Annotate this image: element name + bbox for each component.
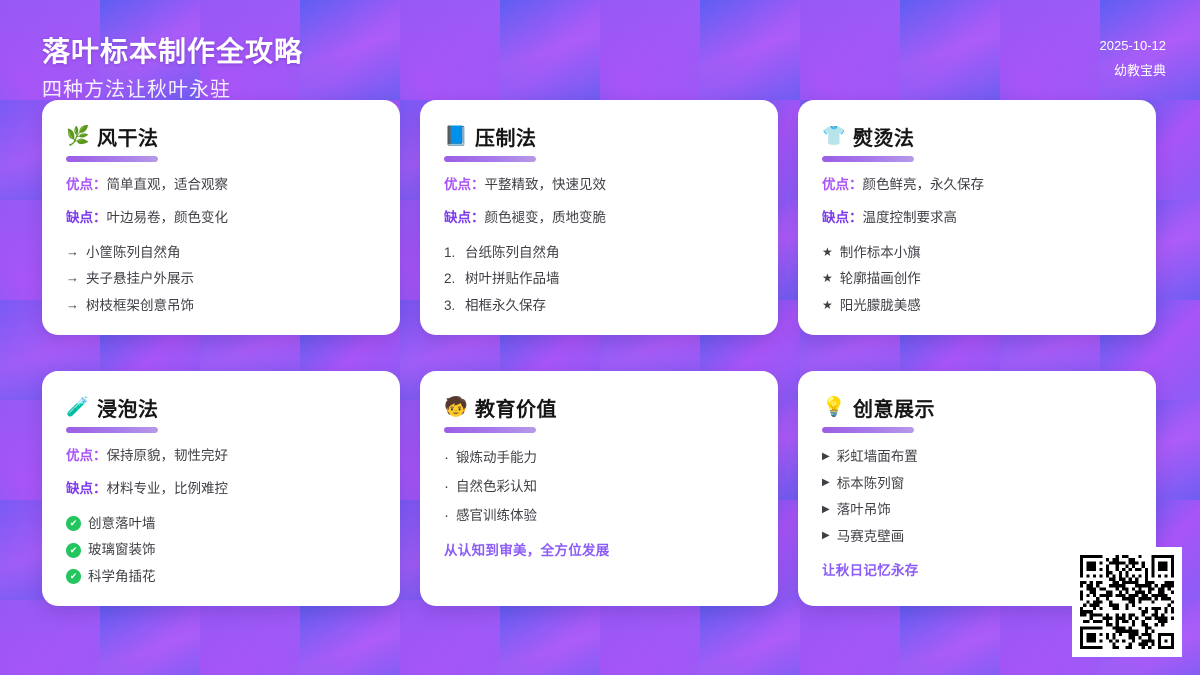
leaf-icon: 🌿 (66, 127, 88, 146)
card-pro-row: 优点：简单直观，适合观察 (66, 175, 376, 195)
book-icon: 📘 (444, 127, 466, 146)
card[interactable]: 🧒教育价值·锻炼动手能力·自然色彩认知·感官训练体验从认知到审美，全方位发展 (420, 371, 778, 606)
list-item: ▶落叶吊饰 (822, 500, 1132, 520)
card-header: 💡创意展示 (822, 393, 1132, 422)
title-underline (444, 156, 536, 162)
con-label: 缺点： (444, 210, 485, 225)
card-header: 🧪浸泡法 (66, 393, 376, 422)
con-value: 叶边易卷，颜色变化 (107, 210, 229, 225)
lightbulb-icon: 💡 (822, 398, 844, 417)
title-underline (822, 427, 914, 433)
qr-code[interactable] (1072, 547, 1182, 657)
con-value: 温度控制要求高 (863, 210, 958, 225)
pro-value: 平整精致，快速见效 (485, 177, 607, 192)
header-source: 幼教宝典 (1100, 59, 1167, 84)
card-header: 📘压制法 (444, 122, 754, 151)
card-con-row: 缺点：温度控制要求高 (822, 208, 1132, 228)
child-icon: 🧒 (444, 398, 466, 417)
pro-label: 优点： (822, 177, 863, 192)
card-list: →小筐陈列自然角→夹子悬挂户外展示→树枝框架创意吊饰 (66, 243, 376, 316)
con-label: 缺点： (66, 210, 107, 225)
card-grid: 🌿风干法优点：简单直观，适合观察缺点：叶边易卷，颜色变化→小筐陈列自然角→夹子悬… (42, 100, 1158, 606)
card[interactable]: 🧪浸泡法优点：保持原貌，韧性完好缺点：材料专业，比例难控✔创意落叶墙✔玻璃窗装饰… (42, 371, 400, 606)
list-bullet-icon: 2. (444, 269, 458, 289)
list-item-label: 感官训练体验 (456, 506, 537, 526)
list-item-label: 科学角插花 (88, 567, 156, 587)
card-title: 浸泡法 (97, 393, 159, 422)
card-list: ·锻炼动手能力·自然色彩认知·感官训练体验 (444, 447, 754, 526)
list-item-label: 玻璃窗装饰 (88, 540, 156, 560)
card-pro-row: 优点：保持原貌，韧性完好 (66, 446, 376, 466)
list-bullet-icon: ★ (822, 244, 833, 261)
list-item-label: 马赛克壁画 (837, 527, 905, 547)
con-label: 缺点： (822, 210, 863, 225)
list-bullet-icon: → (66, 269, 79, 288)
header-meta: 2025-10-12 幼教宝典 (1100, 34, 1167, 83)
card-con-row: 缺点：叶边易卷，颜色变化 (66, 208, 376, 228)
list-bullet-icon: ▶ (822, 476, 830, 491)
header-date: 2025-10-12 (1100, 34, 1167, 59)
pro-label: 优点： (66, 177, 107, 192)
list-item: ★轮廓描画创作 (822, 269, 1132, 289)
list-item-label: 创意落叶墙 (88, 514, 156, 534)
shirt-icon: 👕 (822, 127, 844, 146)
list-bullet-icon: ★ (822, 270, 833, 287)
list-bullet-icon: · (444, 505, 449, 527)
card-title: 风干法 (97, 122, 159, 151)
con-value: 颜色褪变，质地变脆 (485, 210, 607, 225)
page-subtitle: 四种方法让秋叶永驻 (42, 73, 303, 102)
con-label: 缺点： (66, 481, 107, 496)
list-bullet-icon: ✔ (66, 543, 81, 558)
pro-label: 优点： (66, 448, 107, 463)
list-bullet-icon: ✔ (66, 516, 81, 531)
qr-code-image (1080, 555, 1174, 649)
list-item: ·感官训练体验 (444, 505, 754, 527)
card-pro-row: 优点：平整精致，快速见效 (444, 175, 754, 195)
list-item-label: 树枝框架创意吊饰 (86, 296, 194, 316)
list-item-label: 制作标本小旗 (840, 243, 921, 263)
list-item-label: 锻炼动手能力 (456, 448, 537, 468)
card-con-row: 缺点：颜色褪变，质地变脆 (444, 208, 754, 228)
list-bullet-icon: 3. (444, 296, 458, 316)
list-bullet-icon: → (66, 243, 79, 262)
card-con-row: 缺点：材料专业，比例难控 (66, 479, 376, 499)
list-bullet-icon: ▶ (822, 450, 830, 465)
list-item-label: 彩虹墙面布置 (837, 447, 918, 467)
list-item-label: 台纸陈列自然角 (465, 243, 560, 263)
list-item: ✔创意落叶墙 (66, 514, 376, 534)
list-item: ★阳光朦胧美感 (822, 296, 1132, 316)
flask-icon: 🧪 (66, 398, 88, 417)
pro-value: 保持原貌，韧性完好 (107, 448, 229, 463)
list-item-label: 自然色彩认知 (456, 477, 537, 497)
list-item: 1.台纸陈列自然角 (444, 243, 754, 263)
card-list: ★制作标本小旗★轮廓描画创作★阳光朦胧美感 (822, 243, 1132, 316)
list-item-label: 夹子悬挂户外展示 (86, 269, 194, 289)
card-title: 熨烫法 (853, 122, 915, 151)
list-item: →小筐陈列自然角 (66, 243, 376, 263)
card[interactable]: 👕熨烫法优点：颜色鲜亮，永久保存缺点：温度控制要求高★制作标本小旗★轮廓描画创作… (798, 100, 1156, 335)
con-value: 材料专业，比例难控 (107, 481, 229, 496)
list-item-label: 小筐陈列自然角 (86, 243, 181, 263)
list-item: →夹子悬挂户外展示 (66, 269, 376, 289)
list-item: ▶马赛克壁画 (822, 527, 1132, 547)
list-item: →树枝框架创意吊饰 (66, 296, 376, 316)
card-header: 👕熨烫法 (822, 122, 1132, 151)
card-title: 教育价值 (475, 393, 557, 422)
title-underline (822, 156, 914, 162)
list-item: ·锻炼动手能力 (444, 447, 754, 469)
pro-label: 优点： (444, 177, 485, 192)
card-header: 🌿风干法 (66, 122, 376, 151)
card-list: ✔创意落叶墙✔玻璃窗装饰✔科学角插花 (66, 514, 376, 587)
list-item: ✔玻璃窗装饰 (66, 540, 376, 560)
title-underline (66, 427, 158, 433)
card[interactable]: 📘压制法优点：平整精致，快速见效缺点：颜色褪变，质地变脆1.台纸陈列自然角2.树… (420, 100, 778, 335)
page-title: 落叶标本制作全攻略 (42, 34, 303, 69)
list-item-label: 落叶吊饰 (837, 500, 891, 520)
card-footnote: 从认知到审美，全方位发展 (444, 539, 754, 559)
card-list: 1.台纸陈列自然角2.树叶拼贴作品墙3.相框永久保存 (444, 243, 754, 316)
list-item-label: 相框永久保存 (465, 296, 546, 316)
list-bullet-icon: · (444, 447, 449, 469)
pro-value: 颜色鲜亮，永久保存 (863, 177, 985, 192)
list-bullet-icon: · (444, 476, 449, 498)
list-bullet-icon: ★ (822, 297, 833, 314)
list-bullet-icon: 1. (444, 243, 458, 263)
card-pro-row: 优点：颜色鲜亮，永久保存 (822, 175, 1132, 195)
card-title: 压制法 (475, 122, 537, 151)
list-item-label: 标本陈列窗 (837, 474, 905, 494)
list-item: 3.相框永久保存 (444, 296, 754, 316)
title-underline (444, 427, 536, 433)
card-header: 🧒教育价值 (444, 393, 754, 422)
list-bullet-icon: → (66, 296, 79, 315)
list-item-label: 轮廓描画创作 (840, 269, 921, 289)
list-bullet-icon: ✔ (66, 569, 81, 584)
list-item: ✔科学角插花 (66, 567, 376, 587)
card[interactable]: 🌿风干法优点：简单直观，适合观察缺点：叶边易卷，颜色变化→小筐陈列自然角→夹子悬… (42, 100, 400, 335)
page-header: 落叶标本制作全攻略 四种方法让秋叶永驻 2025-10-12 幼教宝典 (0, 0, 1200, 105)
card-title: 创意展示 (853, 393, 935, 422)
list-item: ▶标本陈列窗 (822, 474, 1132, 494)
header-text-block: 落叶标本制作全攻略 四种方法让秋叶永驻 (42, 34, 303, 102)
list-bullet-icon: ▶ (822, 529, 830, 544)
list-item: 2.树叶拼贴作品墙 (444, 269, 754, 289)
list-item: ·自然色彩认知 (444, 476, 754, 498)
list-item: ★制作标本小旗 (822, 243, 1132, 263)
list-item: ▶彩虹墙面布置 (822, 447, 1132, 467)
card-list: ▶彩虹墙面布置▶标本陈列窗▶落叶吊饰▶马赛克壁画 (822, 447, 1132, 546)
list-bullet-icon: ▶ (822, 503, 830, 518)
title-underline (66, 156, 158, 162)
list-item-label: 树叶拼贴作品墙 (465, 269, 560, 289)
pro-value: 简单直观，适合观察 (107, 177, 229, 192)
list-item-label: 阳光朦胧美感 (840, 296, 921, 316)
